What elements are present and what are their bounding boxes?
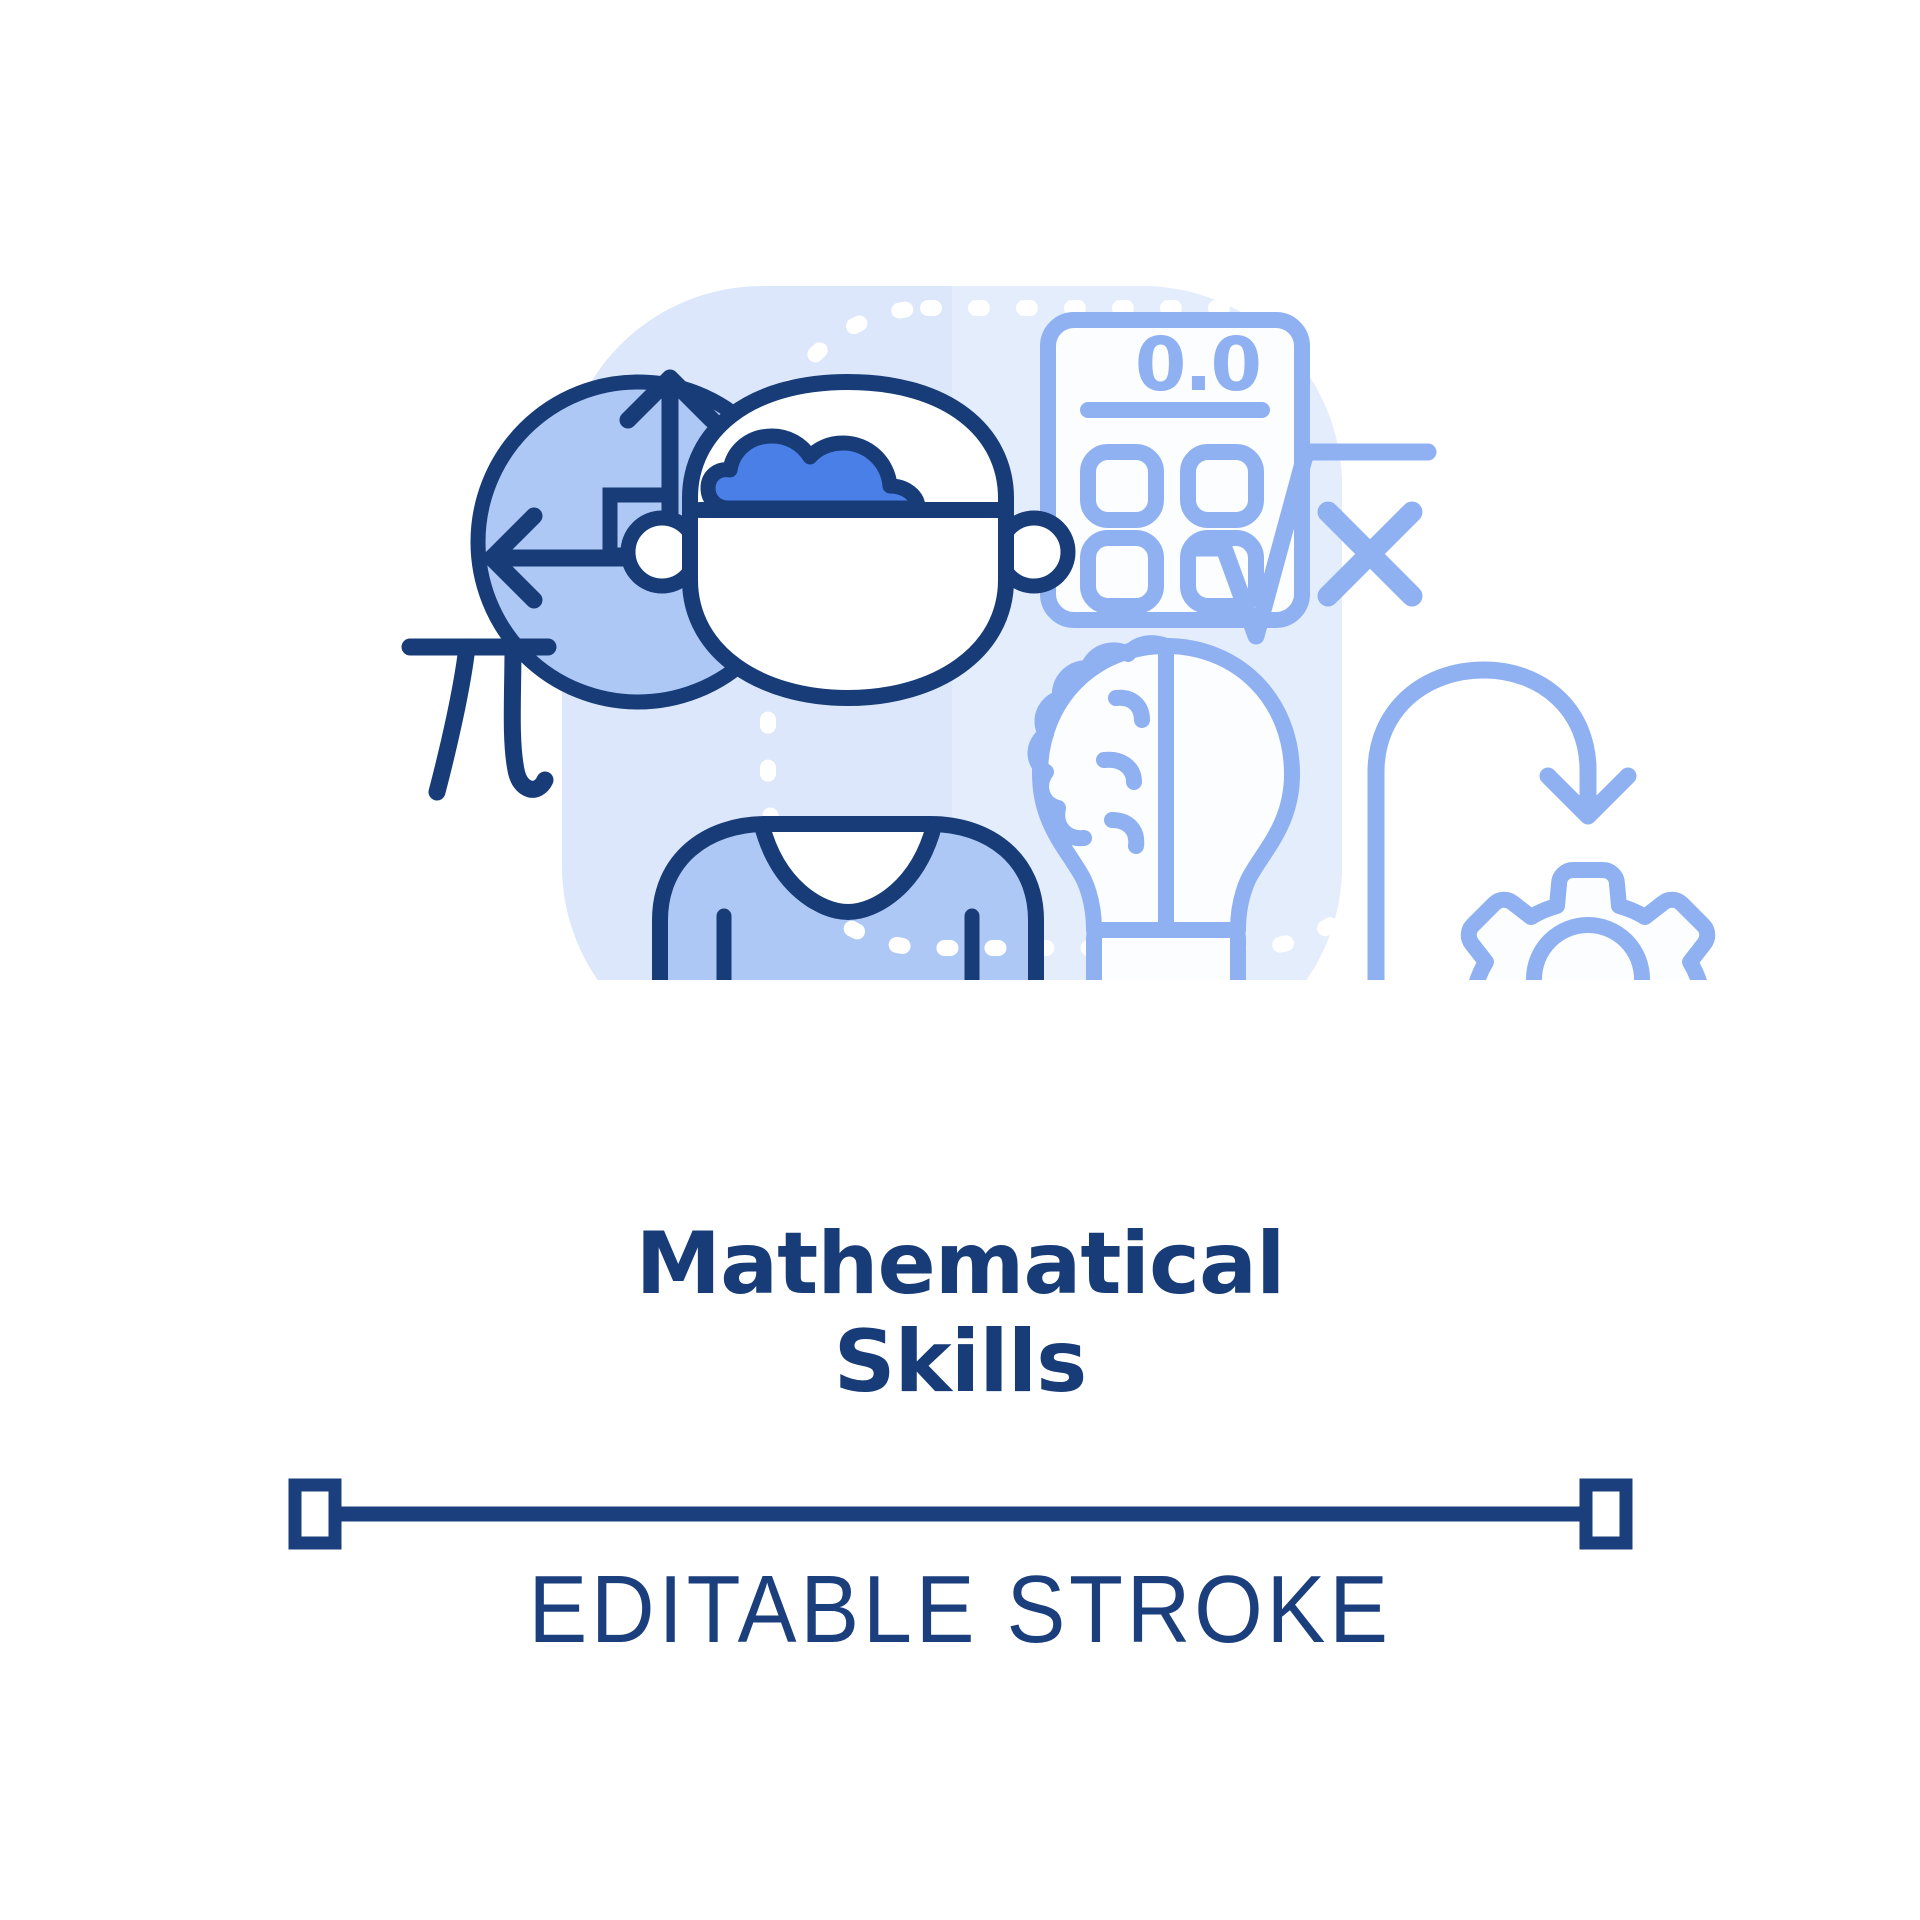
concept-title: Mathematical Skills: [0, 1215, 1920, 1411]
concept-icon-canvas: 0.0: [0, 0, 1920, 1920]
stroke-rule-svg: [0, 1455, 1920, 1565]
pi-symbol: [410, 647, 548, 792]
concept-title-line-1: Mathematical: [0, 1215, 1920, 1313]
endpoint-handle-right[interactable]: [1586, 1485, 1626, 1543]
person-head: [690, 382, 1006, 698]
bulb-base: [1094, 930, 1238, 980]
endpoint-handle-left[interactable]: [295, 1485, 335, 1543]
calculator-display-value: 0.0: [1135, 322, 1260, 408]
gear-cog: [1439, 870, 1737, 980]
concept-title-line-2: Skills: [0, 1313, 1920, 1411]
icon-illustration: 0.0: [0, 280, 1920, 980]
editable-stroke-label: EDITABLE STROKE: [77, 1555, 1843, 1665]
icon-svg: 0.0: [0, 280, 1920, 980]
editable-stroke-rule: [0, 1455, 1920, 1565]
